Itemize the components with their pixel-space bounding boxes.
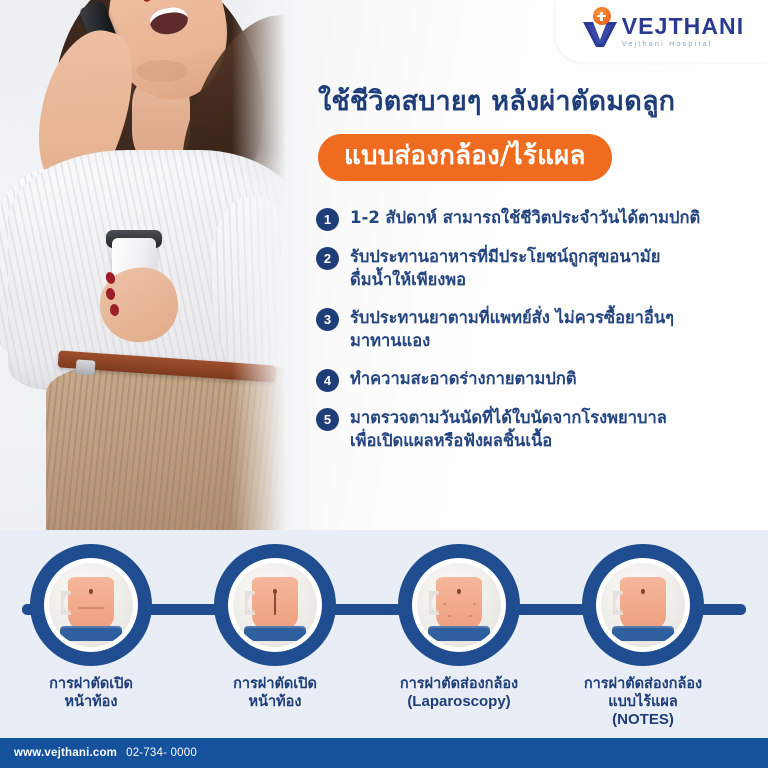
stage-circle <box>582 544 704 666</box>
stage-open-surgery-horizontal: การผ่าตัดเปิด หน้าท้อง <box>25 544 157 711</box>
list-item-text: รับประทานอาหารที่มีประโยชน์ถูกสุขอนามัย … <box>350 245 660 292</box>
waistband <box>428 626 490 641</box>
hero-photo-woman-on-phone <box>0 0 310 530</box>
list-item-line1: รับประทานยาตามที่แพทย์สั่ง ไม่ควรซื้อยาอ… <box>350 308 674 327</box>
list-item: 2 รับประทานอาหารที่มีประโยชน์ถูกสุขอนามั… <box>316 245 756 292</box>
vejthani-logo: VEJTHANI Vejthani Hospital <box>580 13 745 49</box>
port-mark <box>473 603 476 605</box>
footer-bar: www.vejthani.com 02-734- 0000 <box>0 738 768 768</box>
medical-cross-icon <box>593 7 611 25</box>
list-item-number: 2 <box>316 247 339 270</box>
port-mark <box>443 603 446 605</box>
headline-badge: แบบส่องกล้อง/ไร้แผล <box>318 134 612 181</box>
list-item: 4 ทำความสะอาดร่างกายตามปกติ <box>316 367 756 392</box>
list-item-number: 1 <box>316 208 339 231</box>
list-item-line2: ดื่มน้ำให้เพียงพอ <box>350 268 660 291</box>
list-item-line1: มาตรวจตามวันนัดที่ได้ใบนัดจากโรงพยาบาล <box>350 408 667 427</box>
abdomen-illustration-vertical-incision <box>233 563 317 647</box>
list-item-number: 3 <box>316 308 339 331</box>
list-item: 1 1-2 สัปดาห์ สามารถใช้ชีวิตประจำวันได้ต… <box>316 206 756 231</box>
list-item: 3 รับประทานยาตามที่แพทย์สั่ง ไม่ควรซื้อย… <box>316 306 756 353</box>
incision-horizontal <box>78 607 104 609</box>
photo-fade-overlay <box>232 0 310 530</box>
footer-website-url[interactable]: www.vejthani.com <box>14 747 117 759</box>
stage-caption: การผ่าตัดส่องกล้อง (Laparoscopy) <box>393 675 525 712</box>
stage-inner-ring <box>412 558 506 652</box>
torso <box>620 577 666 629</box>
port-mark <box>469 615 472 617</box>
stage-caption-th2: หน้าท้อง <box>25 693 157 711</box>
navel <box>89 589 92 594</box>
abdomen-illustration-no-incision <box>601 563 685 647</box>
list-item-number: 4 <box>316 369 339 392</box>
stage-caption-th2: แบบไร้แผล <box>577 693 709 711</box>
port-mark <box>448 615 451 617</box>
stage-laparoscopy: การผ่าตัดส่องกล้อง (Laparoscopy) <box>393 544 525 712</box>
list-item-line1: ทำความสะอาดร่างกายตามปกติ <box>350 369 577 388</box>
waistband <box>244 626 306 641</box>
stage-caption: การผ่าตัดเปิด หน้าท้อง <box>209 675 341 711</box>
torso <box>68 577 114 629</box>
stage-caption-th1: การผ่าตัดส่องกล้อง <box>584 676 702 692</box>
stage-open-surgery-vertical: การผ่าตัดเปิด หน้าท้อง <box>209 544 341 711</box>
stage-inner-ring <box>596 558 690 652</box>
top-section: VEJTHANI Vejthani Hospital ใช้ชีวิตสบายๆ… <box>0 0 768 530</box>
stage-caption-th2: หน้าท้อง <box>209 693 341 711</box>
footer-phone-number[interactable]: 02-734- 0000 <box>126 747 197 759</box>
stage-notes-scarless: การผ่าตัดส่องกล้อง แบบไร้แผล (NOTES) <box>577 544 709 730</box>
list-item-text: 1-2 สัปดาห์ สามารถใช้ชีวิตประจำวันได้ตาม… <box>350 206 700 229</box>
belt-buckle <box>75 359 95 375</box>
list-item: 5 มาตรวจตามวันนัดที่ได้ใบนัดจากโรงพยาบาล… <box>316 406 756 453</box>
thumb-nail <box>141 0 154 3</box>
logo-name: VEJTHANI <box>622 15 745 38</box>
list-item-line2: มาทานแอง <box>350 329 674 352</box>
stage-caption: การผ่าตัดเปิด หน้าท้อง <box>25 675 157 711</box>
stage-caption-th1: การผ่าตัดเปิด <box>233 676 317 692</box>
list-item-text: มาตรวจตามวันนัดที่ได้ใบนัดจากโรงพยาบาล เ… <box>350 406 667 453</box>
chin-shadow <box>136 60 188 82</box>
stage-caption: การผ่าตัดส่องกล้อง แบบไร้แผล (NOTES) <box>577 675 709 730</box>
logo-panel: VEJTHANI Vejthani Hospital <box>556 0 768 62</box>
navel <box>457 589 460 594</box>
logo-subtitle: Vejthani Hospital <box>622 40 745 47</box>
list-item-text: ทำความสะอาดร่างกายตามปกติ <box>350 367 577 390</box>
logo-text: VEJTHANI Vejthani Hospital <box>622 15 745 47</box>
list-item-text: รับประทานยาตามที่แพทย์สั่ง ไม่ควรซื้อยาอ… <box>350 306 674 353</box>
waistband <box>60 626 122 641</box>
stage-inner-ring <box>44 558 138 652</box>
navel <box>641 589 644 594</box>
stage-caption-en: (Laparoscopy) <box>393 693 525 712</box>
logo-v-mark <box>580 13 620 49</box>
stage-circle <box>30 544 152 666</box>
aftercare-tips-list: 1 1-2 สัปดาห์ สามารถใช้ชีวิตประจำวันได้ต… <box>316 206 756 467</box>
abdomen-illustration-horizontal-incision <box>49 563 133 647</box>
stage-circle <box>214 544 336 666</box>
stage-caption-th1: การผ่าตัดส่องกล้อง <box>400 676 518 692</box>
stage-caption-en: (NOTES) <box>577 711 709 730</box>
incision-vertical <box>274 593 276 615</box>
stage-inner-ring <box>228 558 322 652</box>
list-item-line1: รับประทานอาหารที่มีประโยชน์ถูกสุขอนามัย <box>350 247 660 266</box>
abdomen-illustration-laparoscopy-ports <box>417 563 501 647</box>
list-item-line1: 1-2 สัปดาห์ สามารถใช้ชีวิตประจำวันได้ตาม… <box>350 208 700 227</box>
list-item-line2: เพื่อเปิดแผลหรือฟังผลชิ้นเนื้อ <box>350 429 667 452</box>
stage-circle <box>398 544 520 666</box>
stage-caption-th1: การผ่าตัดเปิด <box>49 676 133 692</box>
page-headline: ใช้ชีวิตสบายๆ หลังผ่าตัดมดลูก <box>318 86 748 118</box>
waistband <box>612 626 674 641</box>
list-item-number: 5 <box>316 408 339 431</box>
